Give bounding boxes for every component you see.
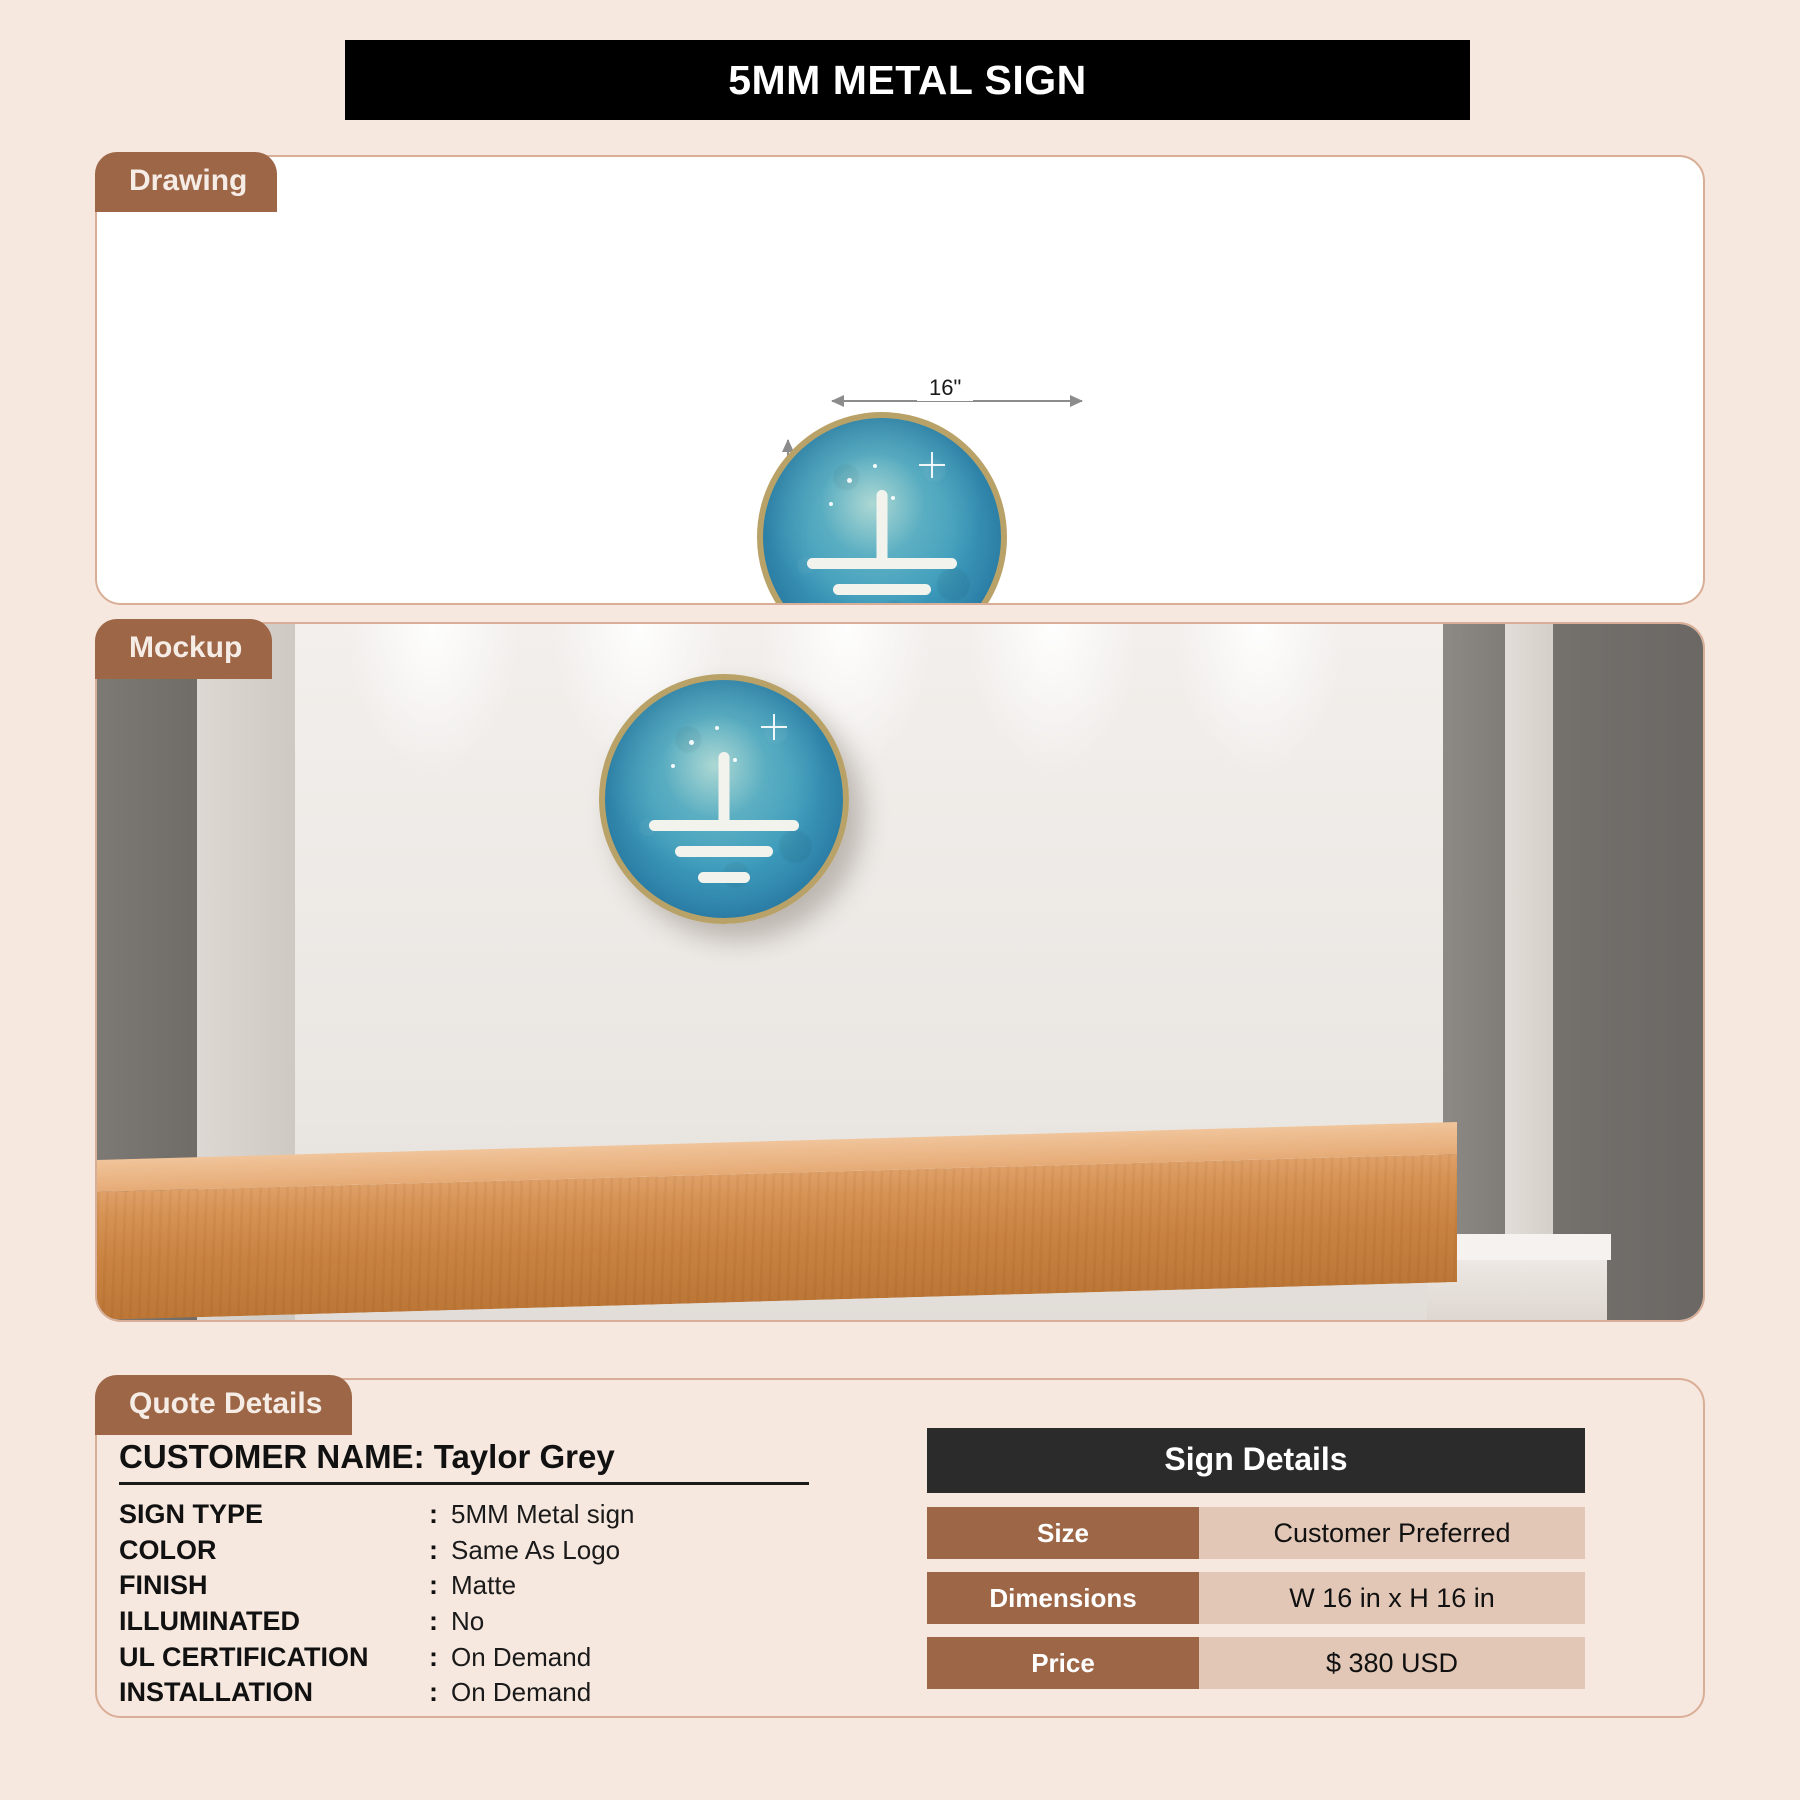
spec-value: Same As Logo: [451, 1533, 620, 1567]
spec-value: Matte: [451, 1568, 516, 1602]
spec-row: PERMIT : On Demand: [119, 1711, 907, 1718]
mockup-card: [95, 622, 1705, 1322]
quote-sheet: 5MM METAL SIGN Drawing 16" 16": [0, 0, 1800, 1800]
table-row-label: Size: [927, 1507, 1199, 1559]
ground-symbol-icon: [605, 680, 843, 918]
table-row-label: Price: [927, 1637, 1199, 1689]
spec-colon: :: [429, 1675, 451, 1711]
right-wall-return: [1505, 624, 1553, 1320]
drawing-stage: 16" 16": [97, 157, 1703, 603]
table-row-label: Dimensions: [927, 1572, 1199, 1624]
table-row: Dimensions W 16 in x H 16 in: [927, 1572, 1585, 1624]
wall-light-wash: [295, 624, 1443, 1028]
drawing-section-tab: Drawing: [95, 152, 277, 212]
sign-details-panel: Sign Details Size Customer Preferred Dim…: [907, 1380, 1703, 1716]
spec-value: On Demand: [451, 1640, 591, 1674]
table-row-value: $ 380 USD: [1199, 1637, 1585, 1689]
spec-key: FINISH: [119, 1568, 429, 1604]
spec-row: ILLUMINATED : No: [119, 1604, 907, 1640]
sign-artwork-mockup: [599, 674, 849, 924]
sign-artwork-drawing: [757, 412, 1007, 605]
customer-name-line: CUSTOMER NAME: Taylor Grey: [119, 1438, 809, 1485]
ground-bar-1: [649, 820, 799, 831]
width-dimension-label: 16": [917, 375, 973, 401]
ground-bar-2: [833, 584, 931, 595]
customer-name-label: CUSTOMER NAME:: [119, 1438, 425, 1475]
spec-colon: :: [429, 1604, 451, 1640]
spec-colon: :: [429, 1568, 451, 1604]
spec-colon: :: [429, 1497, 451, 1533]
ground-bar-1: [807, 558, 957, 569]
mockup-section-tab: Mockup: [95, 619, 272, 679]
table-row-value: Customer Preferred: [1199, 1507, 1585, 1559]
spec-key: COLOR: [119, 1533, 429, 1569]
sign-details-title: Sign Details: [927, 1428, 1585, 1493]
spec-row: SIGN TYPE : 5MM Metal sign: [119, 1497, 907, 1533]
spec-value: No: [451, 1604, 484, 1638]
sign-details-table: Size Customer Preferred Dimensions W 16 …: [927, 1507, 1585, 1689]
table-row: Size Customer Preferred: [927, 1507, 1585, 1559]
spec-colon: :: [429, 1640, 451, 1676]
ground-bar-3: [698, 872, 750, 883]
spec-row: INSTALLATION : On Demand: [119, 1675, 907, 1711]
right-wall: [1443, 624, 1703, 1320]
spec-key: INSTALLATION: [119, 1675, 429, 1711]
ground-stem: [877, 490, 888, 568]
ground-bar-2: [675, 846, 773, 857]
ground-stem: [719, 752, 730, 830]
mockup-sign-position: [599, 674, 849, 924]
page-title-bar: 5MM METAL SIGN: [345, 40, 1470, 120]
page-title: 5MM METAL SIGN: [728, 57, 1087, 104]
spec-key: PERMIT: [119, 1711, 429, 1718]
spec-colon: :: [429, 1711, 451, 1718]
spec-row: COLOR : Same As Logo: [119, 1533, 907, 1569]
spec-list: SIGN TYPE : 5MM Metal sign COLOR : Same …: [119, 1497, 907, 1718]
quote-details-section-tab: Quote Details: [95, 1375, 352, 1435]
spec-colon: :: [429, 1533, 451, 1569]
drawing-card: 16" 16": [95, 155, 1705, 605]
spec-value: On Demand: [451, 1675, 591, 1709]
spec-row: UL CERTIFICATION : On Demand: [119, 1640, 907, 1676]
spec-key: UL CERTIFICATION: [119, 1640, 429, 1676]
spec-key: ILLUMINATED: [119, 1604, 429, 1640]
table-row-value: W 16 in x H 16 in: [1199, 1572, 1585, 1624]
spec-value: On Demand: [451, 1711, 591, 1718]
customer-name-value: Taylor Grey: [434, 1438, 615, 1475]
table-row: Price $ 380 USD: [927, 1637, 1585, 1689]
spec-row: FINISH : Matte: [119, 1568, 907, 1604]
mockup-scene: [97, 624, 1703, 1320]
spec-value: 5MM Metal sign: [451, 1497, 635, 1531]
spec-key: SIGN TYPE: [119, 1497, 429, 1533]
ground-symbol-icon: [763, 418, 1001, 605]
